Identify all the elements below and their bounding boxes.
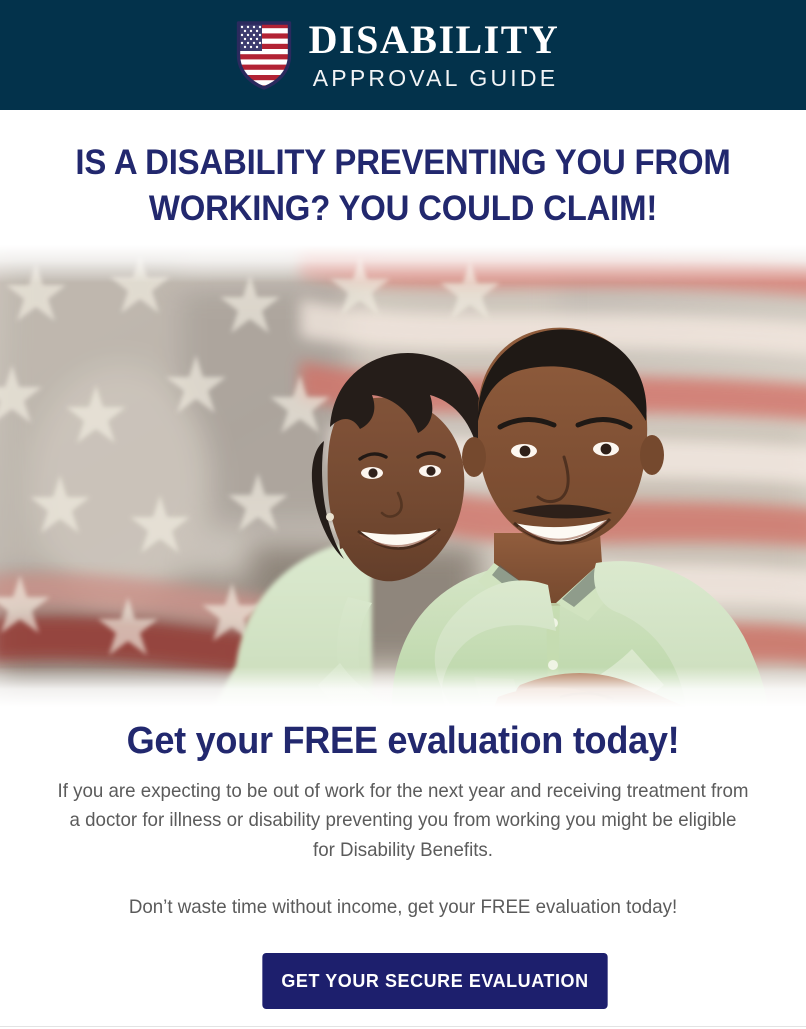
bottom-divider bbox=[0, 1026, 806, 1027]
hero-image bbox=[0, 245, 806, 707]
subheadline: Get your FREE evaluation today! bbox=[51, 721, 756, 763]
site-header: DISABILITY APPROVAL GUIDE bbox=[0, 0, 806, 110]
subheadline-part-1: Get your bbox=[127, 720, 283, 762]
brand-title: DISABILITY bbox=[309, 20, 560, 61]
page-headline: IS A DISABILITY PREVENTING YOU FROM WORK… bbox=[24, 110, 782, 231]
get-secure-evaluation-button[interactable]: GET YOUR SECURE EVALUATION bbox=[262, 953, 607, 1009]
headline-text-part-1: IS A bbox=[75, 143, 145, 182]
headline-emphasis-claim: CLAIM bbox=[543, 189, 646, 228]
brand-text: DISABILITY APPROVAL GUIDE bbox=[309, 20, 560, 91]
subheadline-emphasis-free: FREE bbox=[282, 720, 377, 762]
headline-text-part-3: ! bbox=[646, 189, 657, 228]
cta-row: GET YOUR SECURE EVALUATION bbox=[32, 953, 806, 1009]
brand-lockup[interactable]: DISABILITY APPROVAL GUIDE bbox=[235, 19, 560, 91]
subheadline-emphasis-today: today bbox=[573, 720, 668, 762]
headline-emphasis-disability: DISABILITY bbox=[145, 143, 325, 182]
us-flag-shield-icon bbox=[235, 19, 293, 91]
body-paragraph-primary: If you are expecting to be out of work f… bbox=[57, 777, 748, 866]
main-content: Get your FREE evaluation today! If you a… bbox=[0, 707, 806, 1009]
brand-subtitle: APPROVAL GUIDE bbox=[310, 67, 558, 90]
landing-page: DISABILITY APPROVAL GUIDE IS A DISABILIT… bbox=[0, 0, 806, 1029]
body-paragraph-secondary: Don’t waste time without income, get you… bbox=[57, 893, 748, 923]
subheadline-part-2: evaluation bbox=[378, 720, 573, 762]
subheadline-part-3: ! bbox=[668, 720, 680, 762]
